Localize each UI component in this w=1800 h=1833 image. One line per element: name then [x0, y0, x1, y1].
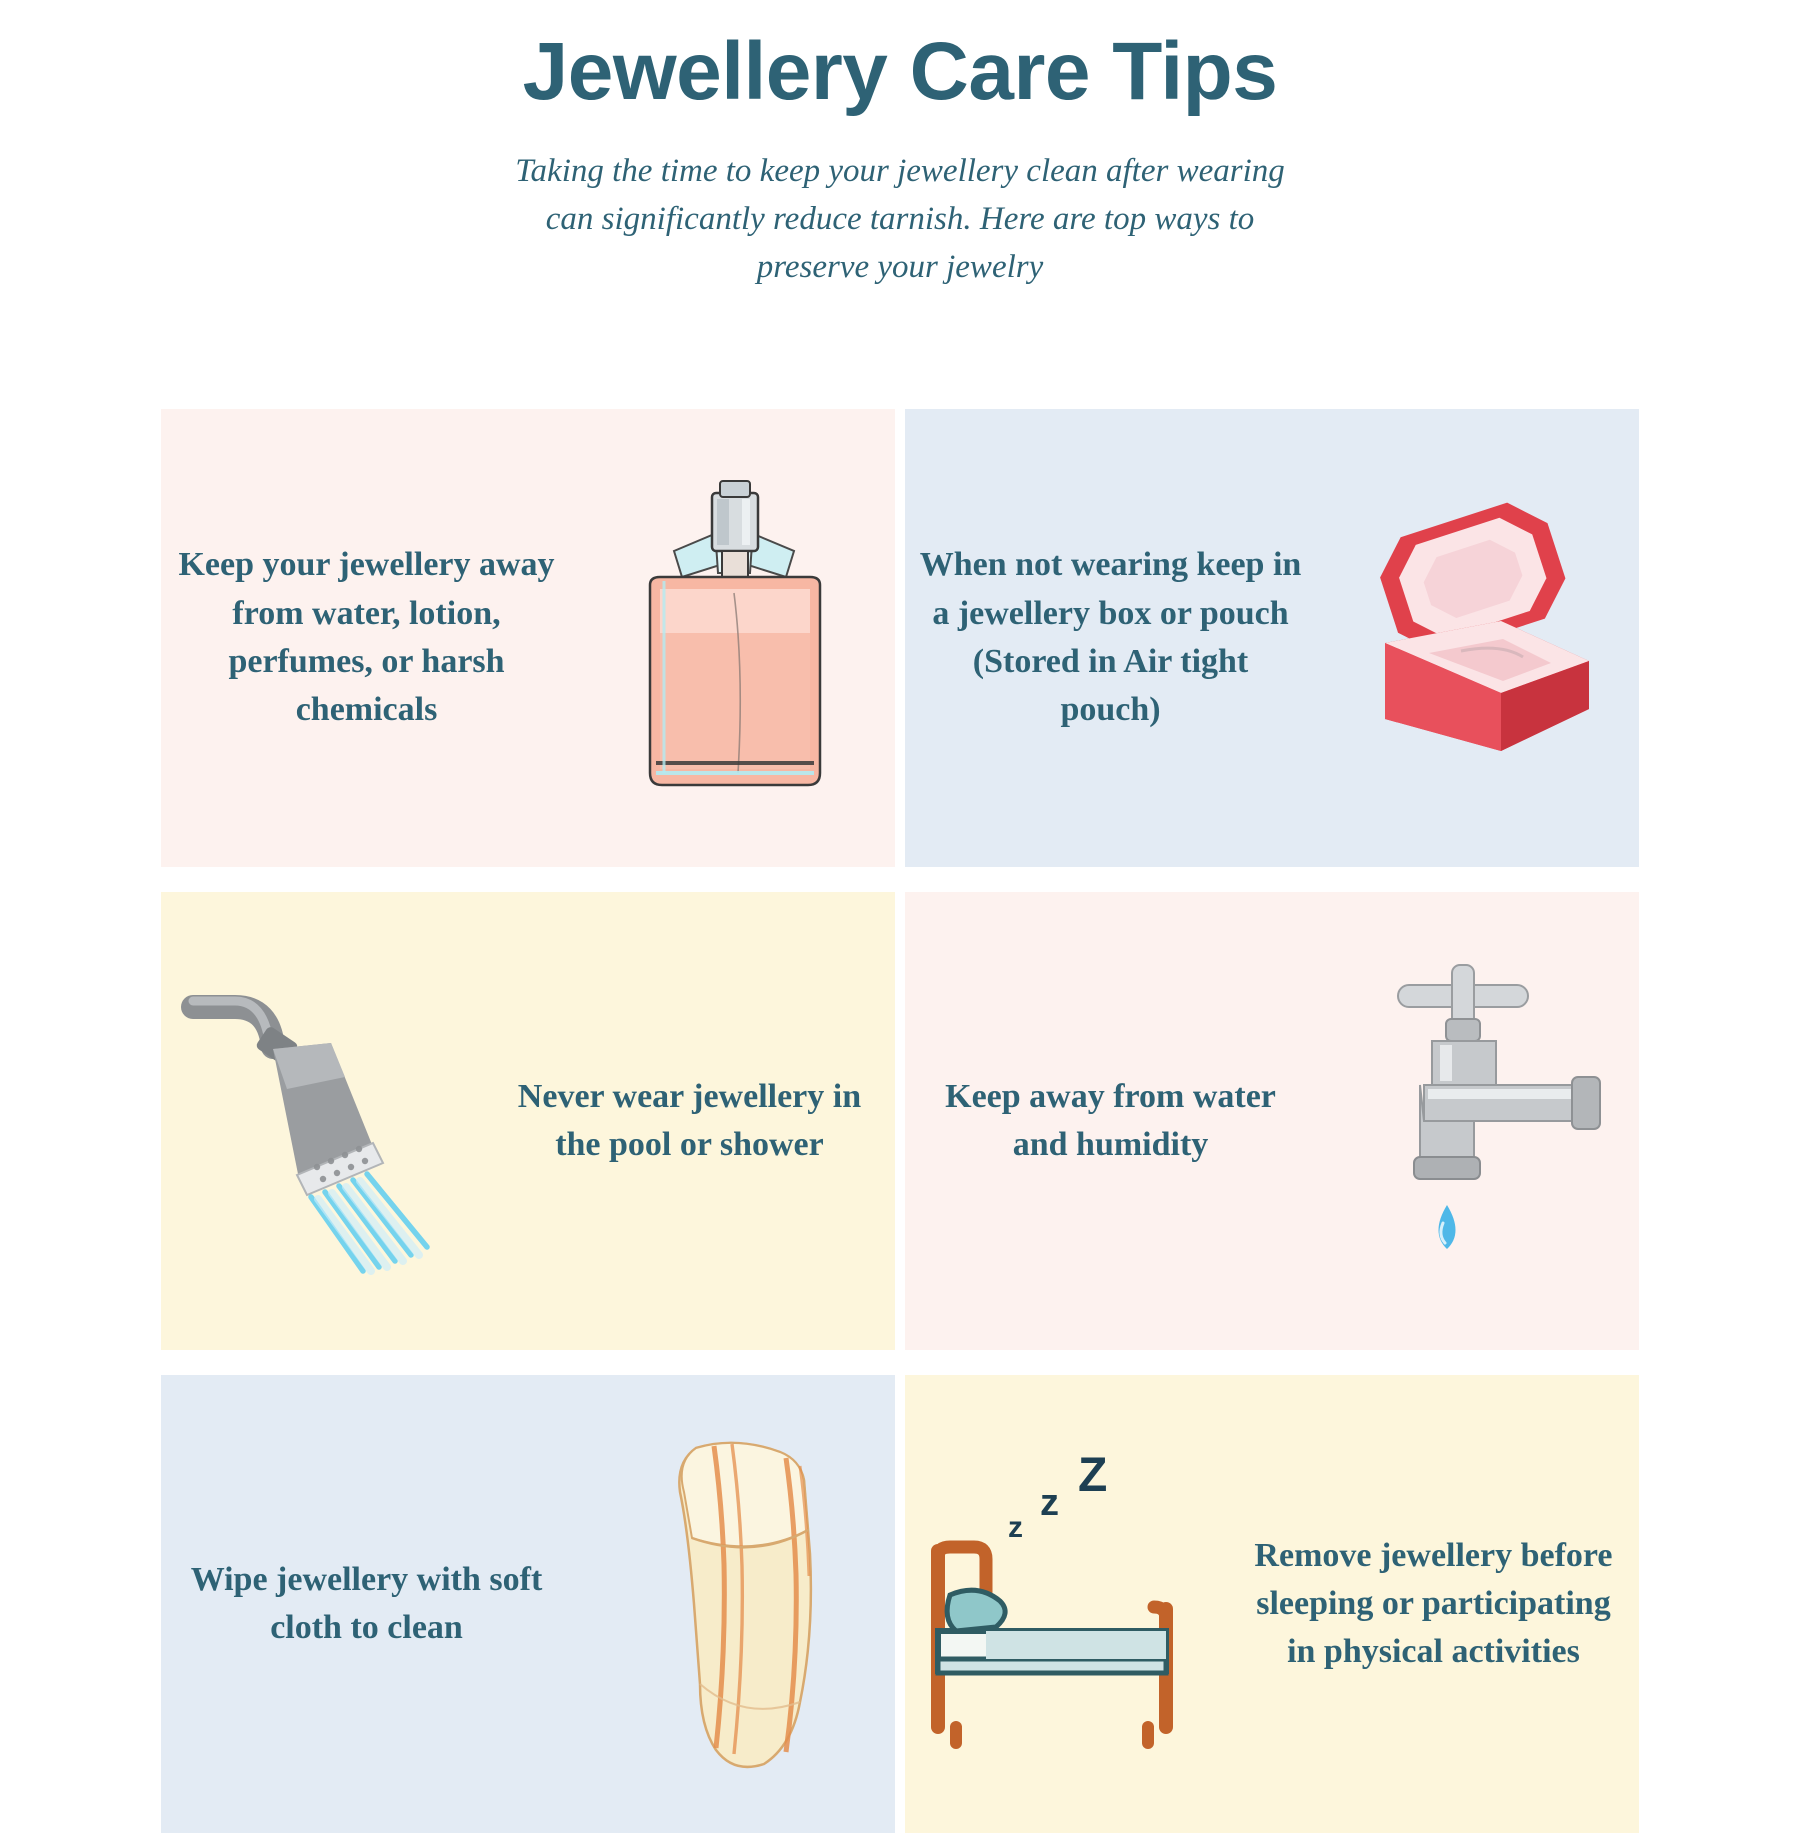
perfume-bottle-icon	[572, 409, 895, 867]
tips-grid: Keep your jewellery away from water, lot…	[161, 409, 1639, 1784]
page-title: Jewellery Care Tips	[0, 26, 1800, 118]
tip-card-shower[interactable]: Never wear jewellery in the pool or show…	[161, 892, 895, 1350]
tip-card-wipe-text: Wipe jewellery with soft cloth to clean	[161, 1556, 572, 1653]
tip-card-storage-text: When not wearing keep in a jewellery box…	[905, 541, 1316, 734]
jewellery-box-icon	[1316, 409, 1639, 867]
header: Jewellery Care Tips Taking the time to k…	[0, 26, 1800, 291]
shower-head-icon	[161, 892, 484, 1350]
infographic-page: Jewellery Care Tips Taking the time to k…	[0, 0, 1800, 1800]
page-subtitle: Taking the time to keep your jewellery c…	[500, 148, 1300, 292]
tip-card-sleeping-text: Remove jewellery before sleeping or part…	[1228, 1532, 1639, 1677]
tip-card-humidity-text: Keep away from water and humidity	[905, 1073, 1316, 1170]
faucet-icon	[1316, 892, 1639, 1350]
tip-card-sleeping[interactable]: z z Z	[905, 1375, 1639, 1833]
tip-card-shower-text: Never wear jewellery in the pool or show…	[484, 1073, 895, 1170]
bed-sleeping-icon: z z Z	[905, 1375, 1228, 1833]
tip-card-humidity[interactable]: Keep away from water and humidity	[905, 892, 1639, 1350]
tip-card-storage[interactable]: When not wearing keep in a jewellery box…	[905, 409, 1639, 867]
svg-text:z: z	[1040, 1482, 1059, 1524]
tip-card-chemicals[interactable]: Keep your jewellery away from water, lot…	[161, 409, 895, 867]
svg-text:z: z	[1008, 1511, 1023, 1544]
tip-card-wipe[interactable]: Wipe jewellery with soft cloth to clean	[161, 1375, 895, 1833]
tip-card-chemicals-text: Keep your jewellery away from water, lot…	[161, 541, 572, 734]
svg-text:Z: Z	[1078, 1449, 1107, 1502]
cloth-icon	[572, 1375, 895, 1833]
